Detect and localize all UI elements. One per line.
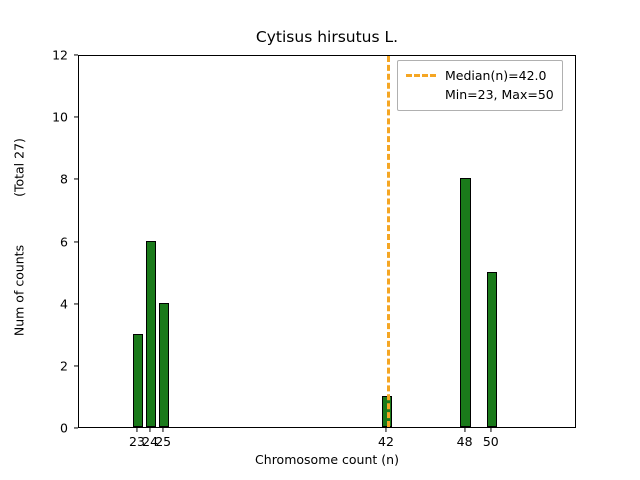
bar bbox=[133, 334, 143, 427]
x-tick-label: 50 bbox=[483, 434, 499, 449]
x-tick-mark bbox=[163, 428, 164, 432]
median-vline bbox=[387, 56, 390, 427]
y-tick-label: 8 bbox=[60, 172, 68, 187]
x-tick-mark bbox=[385, 428, 386, 432]
y-axis-total-label: (Total 27) bbox=[12, 103, 27, 233]
x-axis-label: Chromosome count (n) bbox=[78, 452, 576, 467]
y-tick-label: 6 bbox=[60, 234, 68, 249]
legend-entry-minmax: Min=23, Max=50 bbox=[406, 85, 554, 104]
bar bbox=[159, 303, 169, 427]
x-tick-mark bbox=[136, 428, 137, 432]
y-tick-label: 0 bbox=[60, 421, 68, 436]
y-tick-label: 12 bbox=[52, 48, 68, 63]
x-tick-mark bbox=[464, 428, 465, 432]
chart-figure: Cytisus hirsutus L. 024681012 Num of cou… bbox=[0, 0, 640, 480]
x-tick-label: 48 bbox=[457, 434, 473, 449]
x-tick-mark bbox=[150, 428, 151, 432]
legend: Median(n)=42.0 Min=23, Max=50 bbox=[397, 60, 563, 111]
y-tick-label: 10 bbox=[52, 110, 68, 125]
x-tick-mark bbox=[490, 428, 491, 432]
bar bbox=[487, 272, 497, 427]
y-tick-label: 4 bbox=[60, 296, 68, 311]
bar bbox=[460, 178, 470, 427]
chart-title: Cytisus hirsutus L. bbox=[78, 28, 576, 46]
legend-label-minmax: Min=23, Max=50 bbox=[445, 87, 554, 102]
y-tick-label: 2 bbox=[60, 358, 68, 373]
dashed-line-icon bbox=[406, 74, 436, 77]
legend-entry-median: Median(n)=42.0 bbox=[406, 66, 554, 85]
bars-layer bbox=[79, 56, 575, 427]
x-tick-label: 25 bbox=[155, 434, 171, 449]
bar bbox=[146, 241, 156, 428]
x-tick-label: 42 bbox=[378, 434, 394, 449]
legend-label-median: Median(n)=42.0 bbox=[445, 68, 546, 83]
